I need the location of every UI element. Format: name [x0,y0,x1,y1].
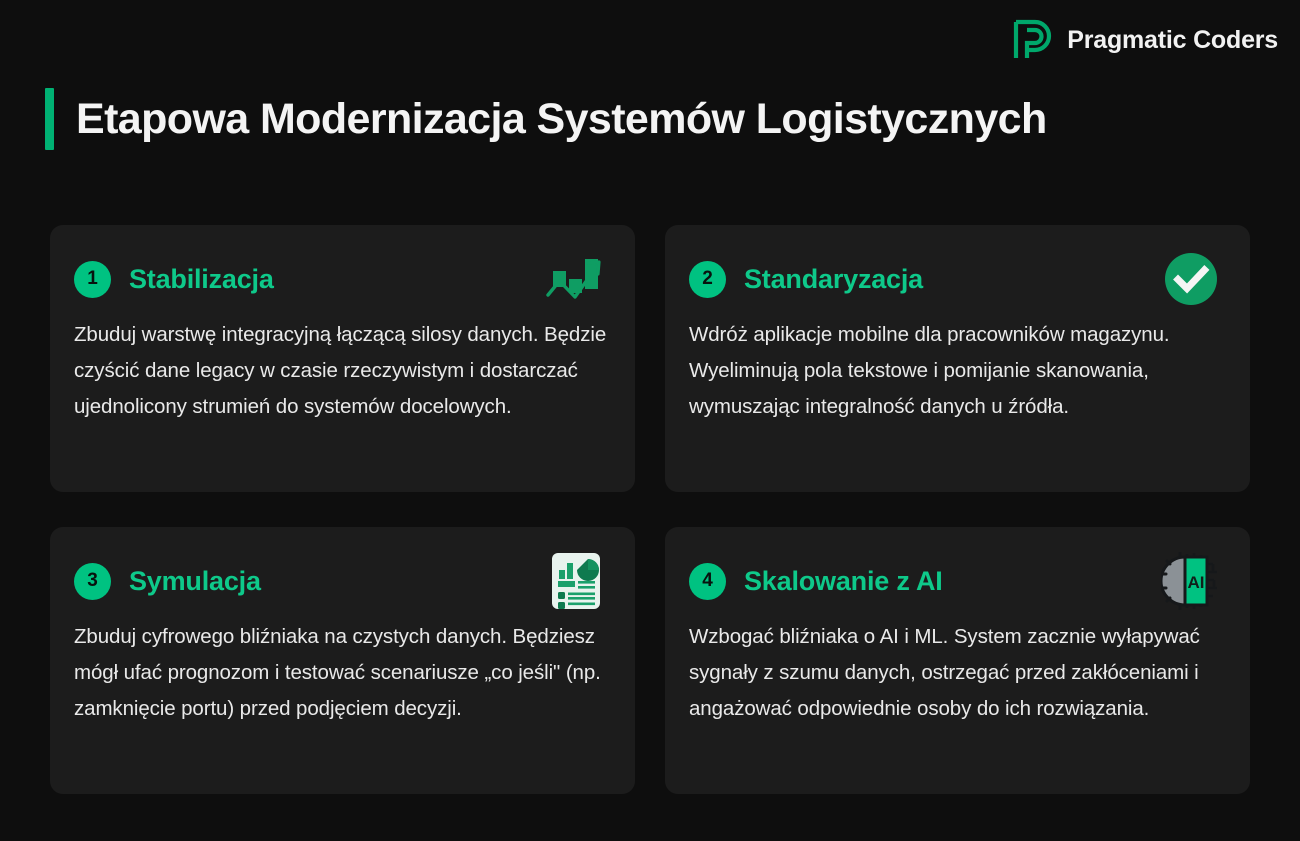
stage-description: Zbuduj cyfrowego bliźniaka na czystych d… [74,619,607,727]
stage-number-badge: 3 [74,563,111,600]
stage-card-grid: 1 Stabilizacja Zbuduj warstwę integracyj… [50,225,1250,794]
pragmatic-coders-p-logo-icon [1011,18,1053,62]
stage-title: Standaryzacja [744,264,923,295]
report-dashboard-icon [545,553,607,609]
card-header: 4 Skalowanie z AI [689,553,1222,609]
card-header: 3 Symulacja [74,553,607,609]
stage-card-3: 3 Symulacja [50,527,635,794]
infographic-page: Pragmatic Coders Etapowa Modernizacja Sy… [0,0,1300,841]
ai-chip-gear-icon: AI [1160,553,1222,609]
stage-title: Stabilizacja [129,264,274,295]
stage-title: Skalowanie z AI [744,566,943,597]
svg-text:AI: AI [1188,573,1205,592]
card-header: 2 Standaryzacja [689,251,1222,307]
stage-title: Symulacja [129,566,261,597]
page-title: Etapowa Modernizacja Systemów Logistyczn… [76,95,1047,144]
title-accent-bar [45,88,54,150]
stage-card-4: 4 Skalowanie z AI [665,527,1250,794]
stage-number-badge: 1 [74,261,111,298]
stage-card-1: 1 Stabilizacja Zbuduj warstwę integracyj… [50,225,635,492]
growth-chart-arrow-icon [545,251,607,307]
stage-description: Wzbogać bliźniaka o AI i ML. System zacz… [689,619,1214,727]
page-title-row: Etapowa Modernizacja Systemów Logistyczn… [45,88,1047,150]
brand-logo: Pragmatic Coders [1011,18,1278,62]
stage-description: Zbuduj warstwę integracyjną łączącą silo… [74,317,607,425]
check-circle-icon [1160,251,1222,307]
stage-number-badge: 2 [689,261,726,298]
card-header: 1 Stabilizacja [74,251,607,307]
stage-number-badge: 4 [689,563,726,600]
stage-description: Wdróż aplikacje mobilne dla pracowników … [689,317,1214,425]
stage-card-2: 2 Standaryzacja Wdróż aplikacje mobilne … [665,225,1250,492]
brand-name: Pragmatic Coders [1067,26,1278,55]
